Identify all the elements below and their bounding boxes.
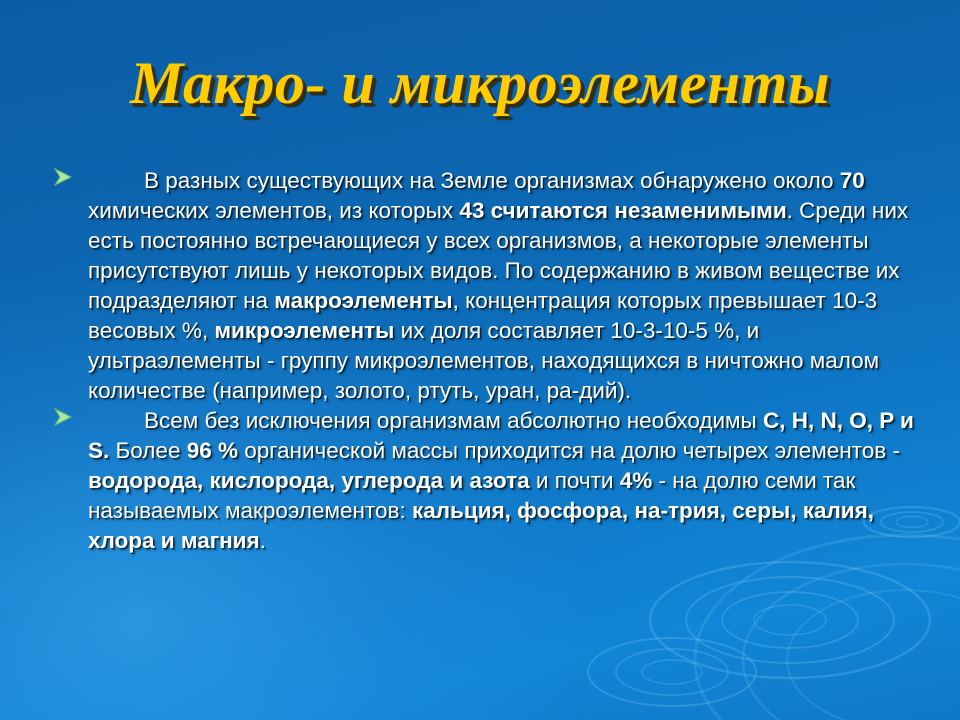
plain-text: Более [109,438,186,463]
green-arrowhead-bullet-icon [52,167,78,193]
emphasis-text: микроэлементы [214,318,394,343]
emphasis-text: 70 [840,168,865,193]
plain-text: . [260,528,266,553]
green-arrowhead-bullet-icon [52,407,78,433]
paragraph-text: Всем без исключения организмам абсолютно… [88,406,932,556]
bullet-paragraph: В разных существующих на Земле организма… [44,166,932,406]
emphasis-text: 43 считаются незаменимыми [459,198,786,223]
bullet-paragraph: Всем без исключения организмам абсолютно… [44,406,932,556]
presentation-slide: Макро- и микроэлементы В разных существу… [0,0,960,720]
slide-title: Макро- и микроэлементы [0,48,960,118]
plain-text: органической массы приходится на долю че… [238,438,900,463]
emphasis-text: водорода, кислорода, углерода и азота [88,468,530,493]
paragraph-text: В разных существующих на Земле организма… [88,166,932,406]
emphasis-text: 96 % [187,438,238,463]
plain-text: В разных существующих на Земле организма… [144,168,840,193]
emphasis-text: 4% [620,468,653,493]
plain-text: Всем без исключения организмам абсолютно… [144,408,763,433]
plain-text: химических элементов, из которых [88,198,459,223]
slide-body: В разных существующих на Земле организма… [44,166,932,556]
emphasis-text: макроэлементы [274,288,452,313]
plain-text: и почти [530,468,620,493]
